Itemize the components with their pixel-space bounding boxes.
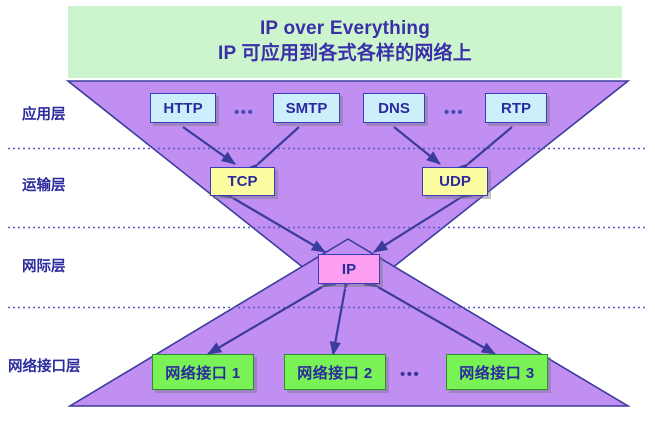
ellipsis-app-2: •••	[444, 105, 464, 120]
node-network-interface-1[interactable]: 网络接口 1	[152, 354, 254, 390]
node-rtp[interactable]: RTP	[485, 93, 547, 123]
layer-label-application: 应用层	[22, 103, 66, 124]
node-tcp[interactable]: TCP	[210, 167, 275, 196]
node-network-interface-2[interactable]: 网络接口 2	[284, 354, 386, 390]
node-smtp[interactable]: SMTP	[273, 93, 340, 123]
node-udp[interactable]: UDP	[422, 167, 488, 196]
node-http[interactable]: HTTP	[150, 93, 216, 123]
layer-label-network-interface: 网络接口层	[8, 355, 81, 376]
node-dns[interactable]: DNS	[363, 93, 425, 123]
banner-title-chinese: IP 可应用到各式各样的网络上	[218, 41, 472, 67]
ellipsis-app-1: •••	[234, 105, 254, 120]
node-ip[interactable]: IP	[318, 254, 380, 284]
layer-label-transport: 运输层	[22, 174, 66, 195]
ip-hourglass-diagram: IP over Everything IP 可应用到各式各样的网络上 应用层 运…	[0, 0, 655, 431]
ellipsis-iface: •••	[400, 367, 420, 382]
node-network-interface-3[interactable]: 网络接口 3	[446, 354, 548, 390]
banner-title-english: IP over Everything	[260, 17, 430, 41]
header-banner: IP over Everything IP 可应用到各式各样的网络上	[68, 6, 622, 78]
layer-label-internet: 网际层	[22, 255, 66, 276]
